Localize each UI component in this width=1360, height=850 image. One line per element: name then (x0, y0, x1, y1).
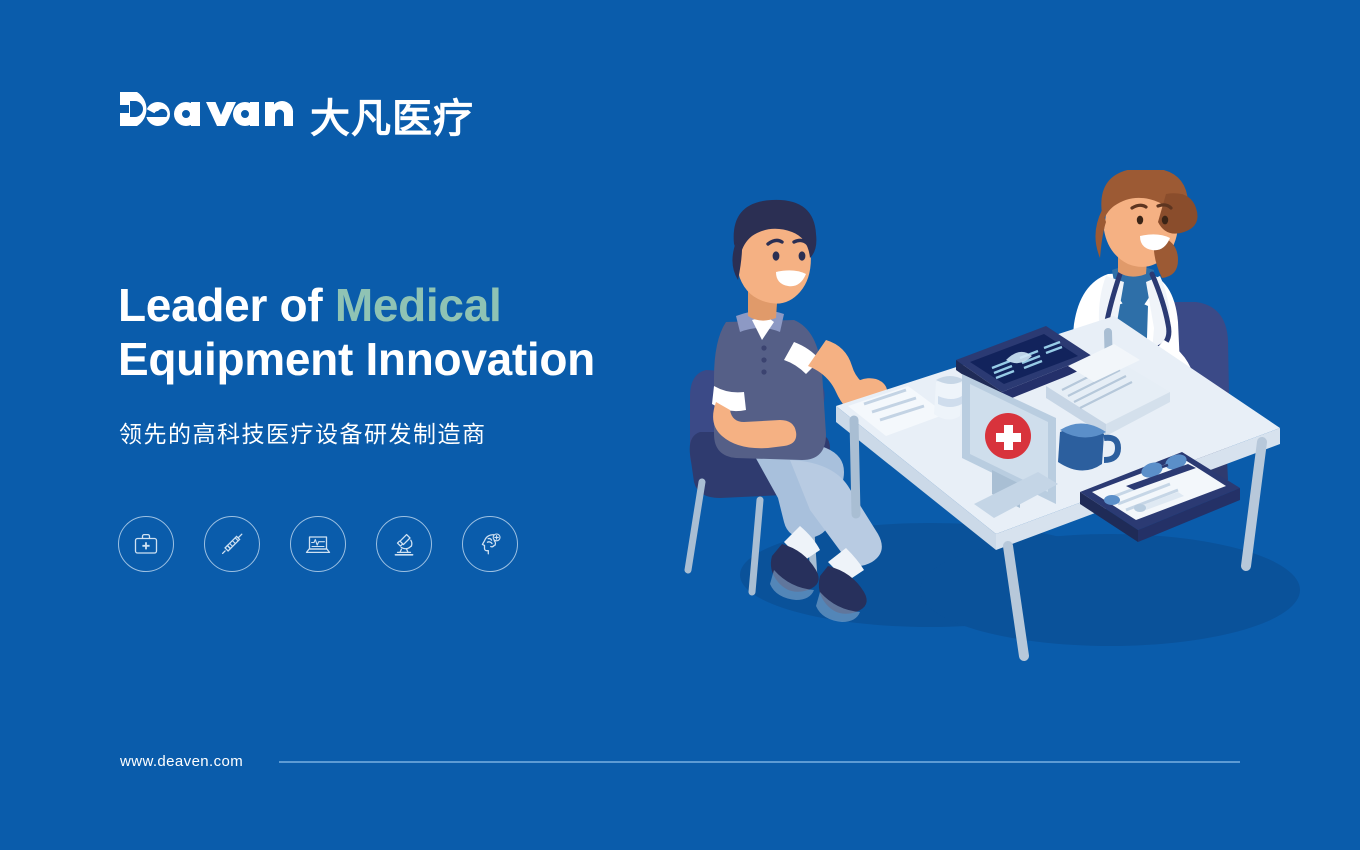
footer: www.deaven.com (120, 753, 1240, 770)
laptop-ecg-icon[interactable] (290, 516, 346, 572)
page-subtitle: 领先的高科技医疗设备研发制造商 (119, 419, 487, 451)
headline-line1-plain: Leader of (118, 279, 335, 331)
feature-icon-row (118, 516, 518, 572)
brain-health-icon[interactable] (462, 516, 518, 572)
syringe-icon[interactable] (204, 516, 260, 572)
slide-canvas: 大凡医疗 Leader of Medical Equipment Innovat… (0, 0, 1360, 850)
brand-logo[interactable]: 大凡医疗 (118, 88, 474, 134)
logo-chinese-name: 大凡医疗 (310, 99, 474, 139)
pill-bottle-icon (934, 376, 964, 420)
footer-divider (279, 761, 1240, 763)
medical-kit-icon[interactable] (118, 516, 174, 572)
headline-line1-accent: Medical (335, 279, 502, 331)
headline-line2: Equipment Innovation (118, 333, 595, 385)
footer-website-link[interactable]: www.deaven.com (120, 753, 243, 770)
doctor-consultation-illustration (640, 170, 1300, 680)
deavan-wordmark-icon (118, 88, 296, 130)
microscope-icon[interactable] (376, 516, 432, 572)
